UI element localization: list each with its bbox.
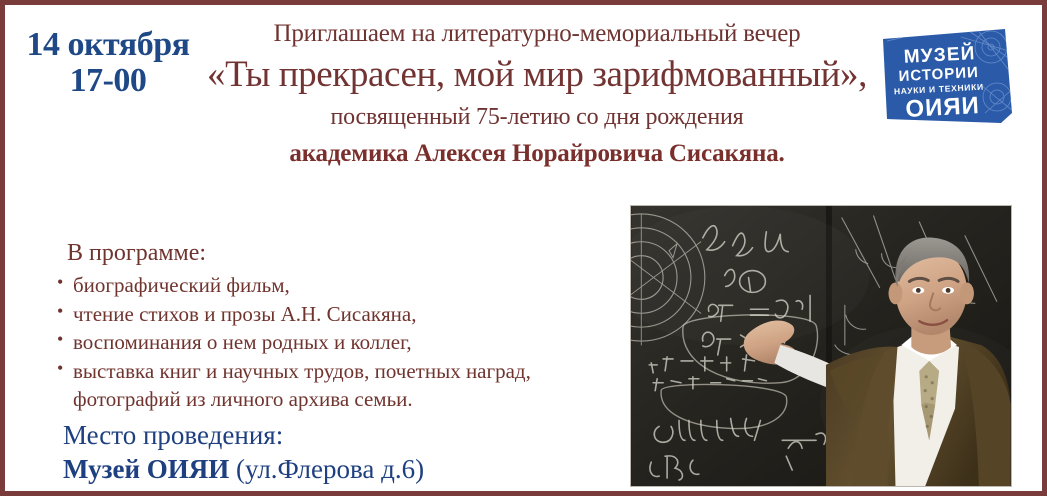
event-date: 14 октября xyxy=(13,27,203,63)
heading-block: Приглашаем на литературно-мемориальный в… xyxy=(201,19,873,169)
program-block: В программе: биографический фильм, чтени… xyxy=(57,239,617,414)
list-item: чтение стихов и прозы А.Н. Сисакяна, xyxy=(57,300,617,329)
dedication-line: посвященный 75-летию со дня рождения xyxy=(201,103,873,132)
venue-block: Место проведения: Музей ОИЯИ (ул.Флерова… xyxy=(63,419,424,486)
program-list: биографический фильм, чтение стихов и пр… xyxy=(57,271,617,414)
honoree-name: академика Алексея Норайровича Сисакяна. xyxy=(201,139,873,169)
invitation-line: Приглашаем на литературно-мемориальный в… xyxy=(201,19,873,49)
venue-label: Место проведения: xyxy=(63,419,424,451)
museum-logo: МУЗЕЙ ИСТОРИИ НАУКИ И ТЕХНИКИ ОИЯИ xyxy=(873,27,1019,127)
event-title: «Ты прекрасен, мой мир зарифмованный», xyxy=(201,52,873,97)
list-item: выставка книг и научных трудов, почетных… xyxy=(57,357,617,414)
venue-address: (ул.Флерова д.6) xyxy=(229,454,424,484)
program-heading: В программе: xyxy=(57,239,617,268)
logo-line-4: ОИЯИ xyxy=(905,92,981,123)
list-item: воспоминания о нем родных и коллег, xyxy=(57,328,617,357)
portrait-photo-image xyxy=(631,206,1011,486)
event-time: 17-00 xyxy=(13,63,203,99)
poster-canvas: 14 октября 17-00 Приглашаем на литератур… xyxy=(0,0,1047,496)
venue-name: Музей ОИЯИ xyxy=(63,454,229,484)
list-item: биографический фильм, xyxy=(57,271,617,300)
portrait-photo xyxy=(630,205,1012,487)
venue-details: Музей ОИЯИ (ул.Флерова д.6) xyxy=(63,453,424,486)
museum-logo-icon: МУЗЕЙ ИСТОРИИ НАУКИ И ТЕХНИКИ ОИЯИ xyxy=(873,27,1019,127)
event-date-block: 14 октября 17-00 xyxy=(13,27,203,99)
